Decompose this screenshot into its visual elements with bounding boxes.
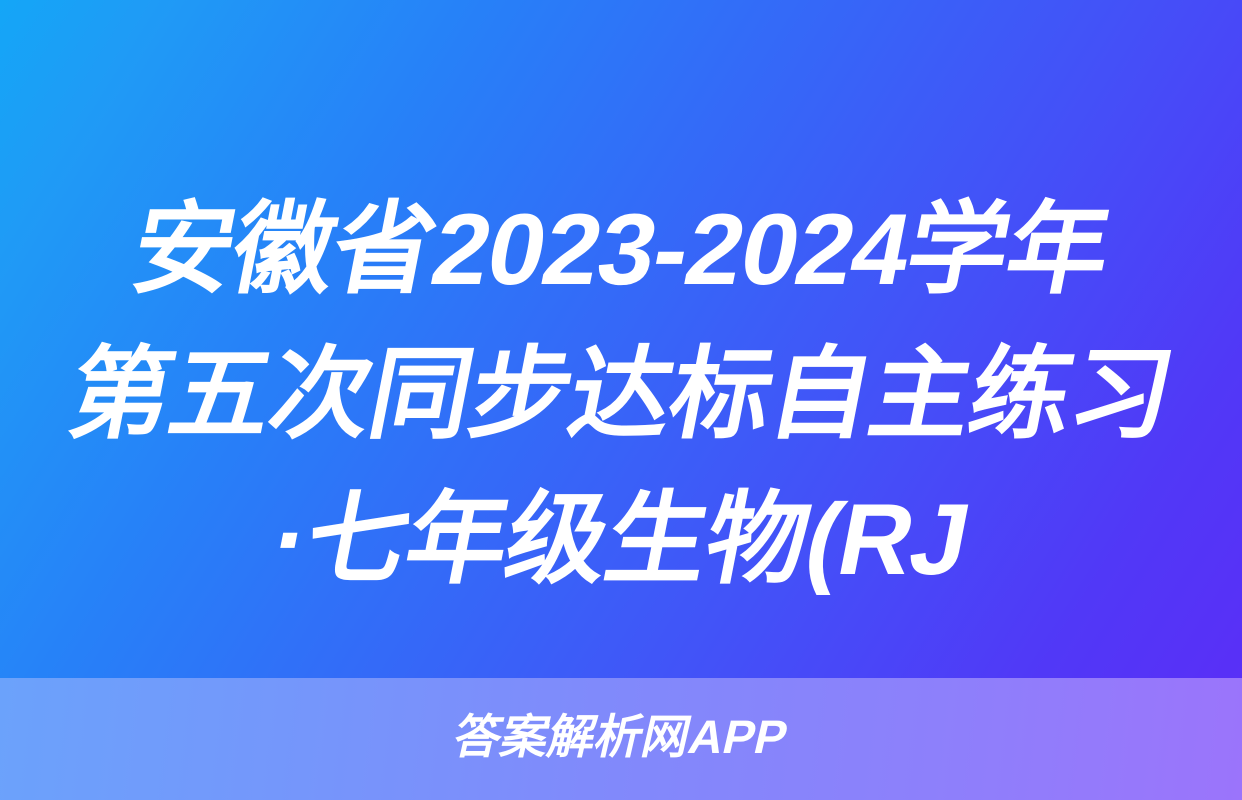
poster-canvas: 安徽省2023-2024学年 第五次同步达标自主练习 ·七年级生物(RJ 答案解…: [0, 0, 1242, 800]
watermark-label: 答案解析网APP: [448, 707, 793, 767]
title-line-2: 第五次同步达标自主练习: [0, 323, 1242, 468]
title-line-1: 安徽省2023-2024学年: [0, 178, 1242, 323]
page-title: 安徽省2023-2024学年 第五次同步达标自主练习 ·七年级生物(RJ: [0, 178, 1242, 613]
watermark: 答案解析网APP: [0, 707, 1242, 767]
title-line-3: ·七年级生物(RJ: [0, 468, 1242, 613]
